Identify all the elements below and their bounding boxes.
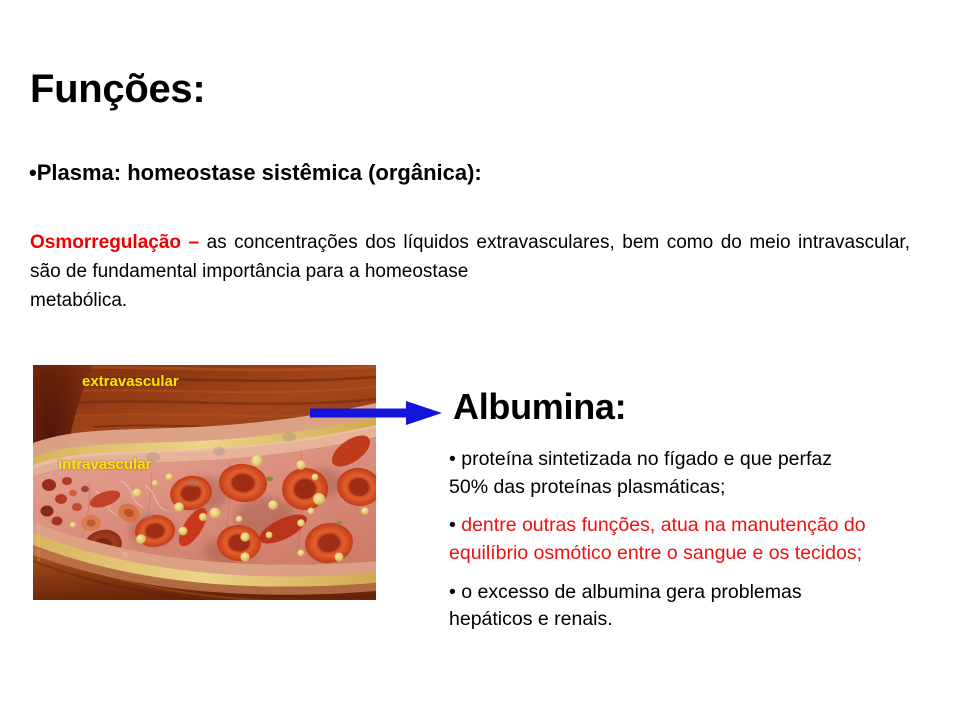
paragraph-keyword: Osmorregulação – <box>30 232 199 253</box>
paragraph-last-line: metabólica. <box>30 286 910 315</box>
blue-right-arrow-icon <box>310 400 442 426</box>
bullet-text: o excesso de albumina gera problemas hep… <box>449 581 802 631</box>
bullet-text: proteína sintetizada no fígado e que per… <box>449 448 832 498</box>
bullet-marker: • <box>449 448 456 470</box>
list-item: • dentre outras funções, atua na manuten… <box>449 512 869 567</box>
page-title: Funções: <box>30 68 205 110</box>
albumina-heading: Albumina: <box>453 386 626 428</box>
list-item: • proteína sintetizada no fígado e que p… <box>449 446 869 501</box>
albumina-bullet-list: • proteína sintetizada no fígado e que p… <box>449 446 869 645</box>
sub-bullet-plasma: •Plasma: homeostase sistêmica (orgânica)… <box>29 160 482 186</box>
bullet-marker: • <box>449 581 456 603</box>
bullet-text: dentre outras funções, atua na manutençã… <box>449 514 866 564</box>
paragraph-osmorregulacao: Osmorregulação – as concentrações dos lí… <box>30 228 910 315</box>
slide-canvas: Funções: •Plasma: homeostase sistêmica (… <box>0 0 960 720</box>
bullet-marker: • <box>449 514 456 536</box>
list-item: • o excesso de albumina gera problemas h… <box>449 579 869 634</box>
